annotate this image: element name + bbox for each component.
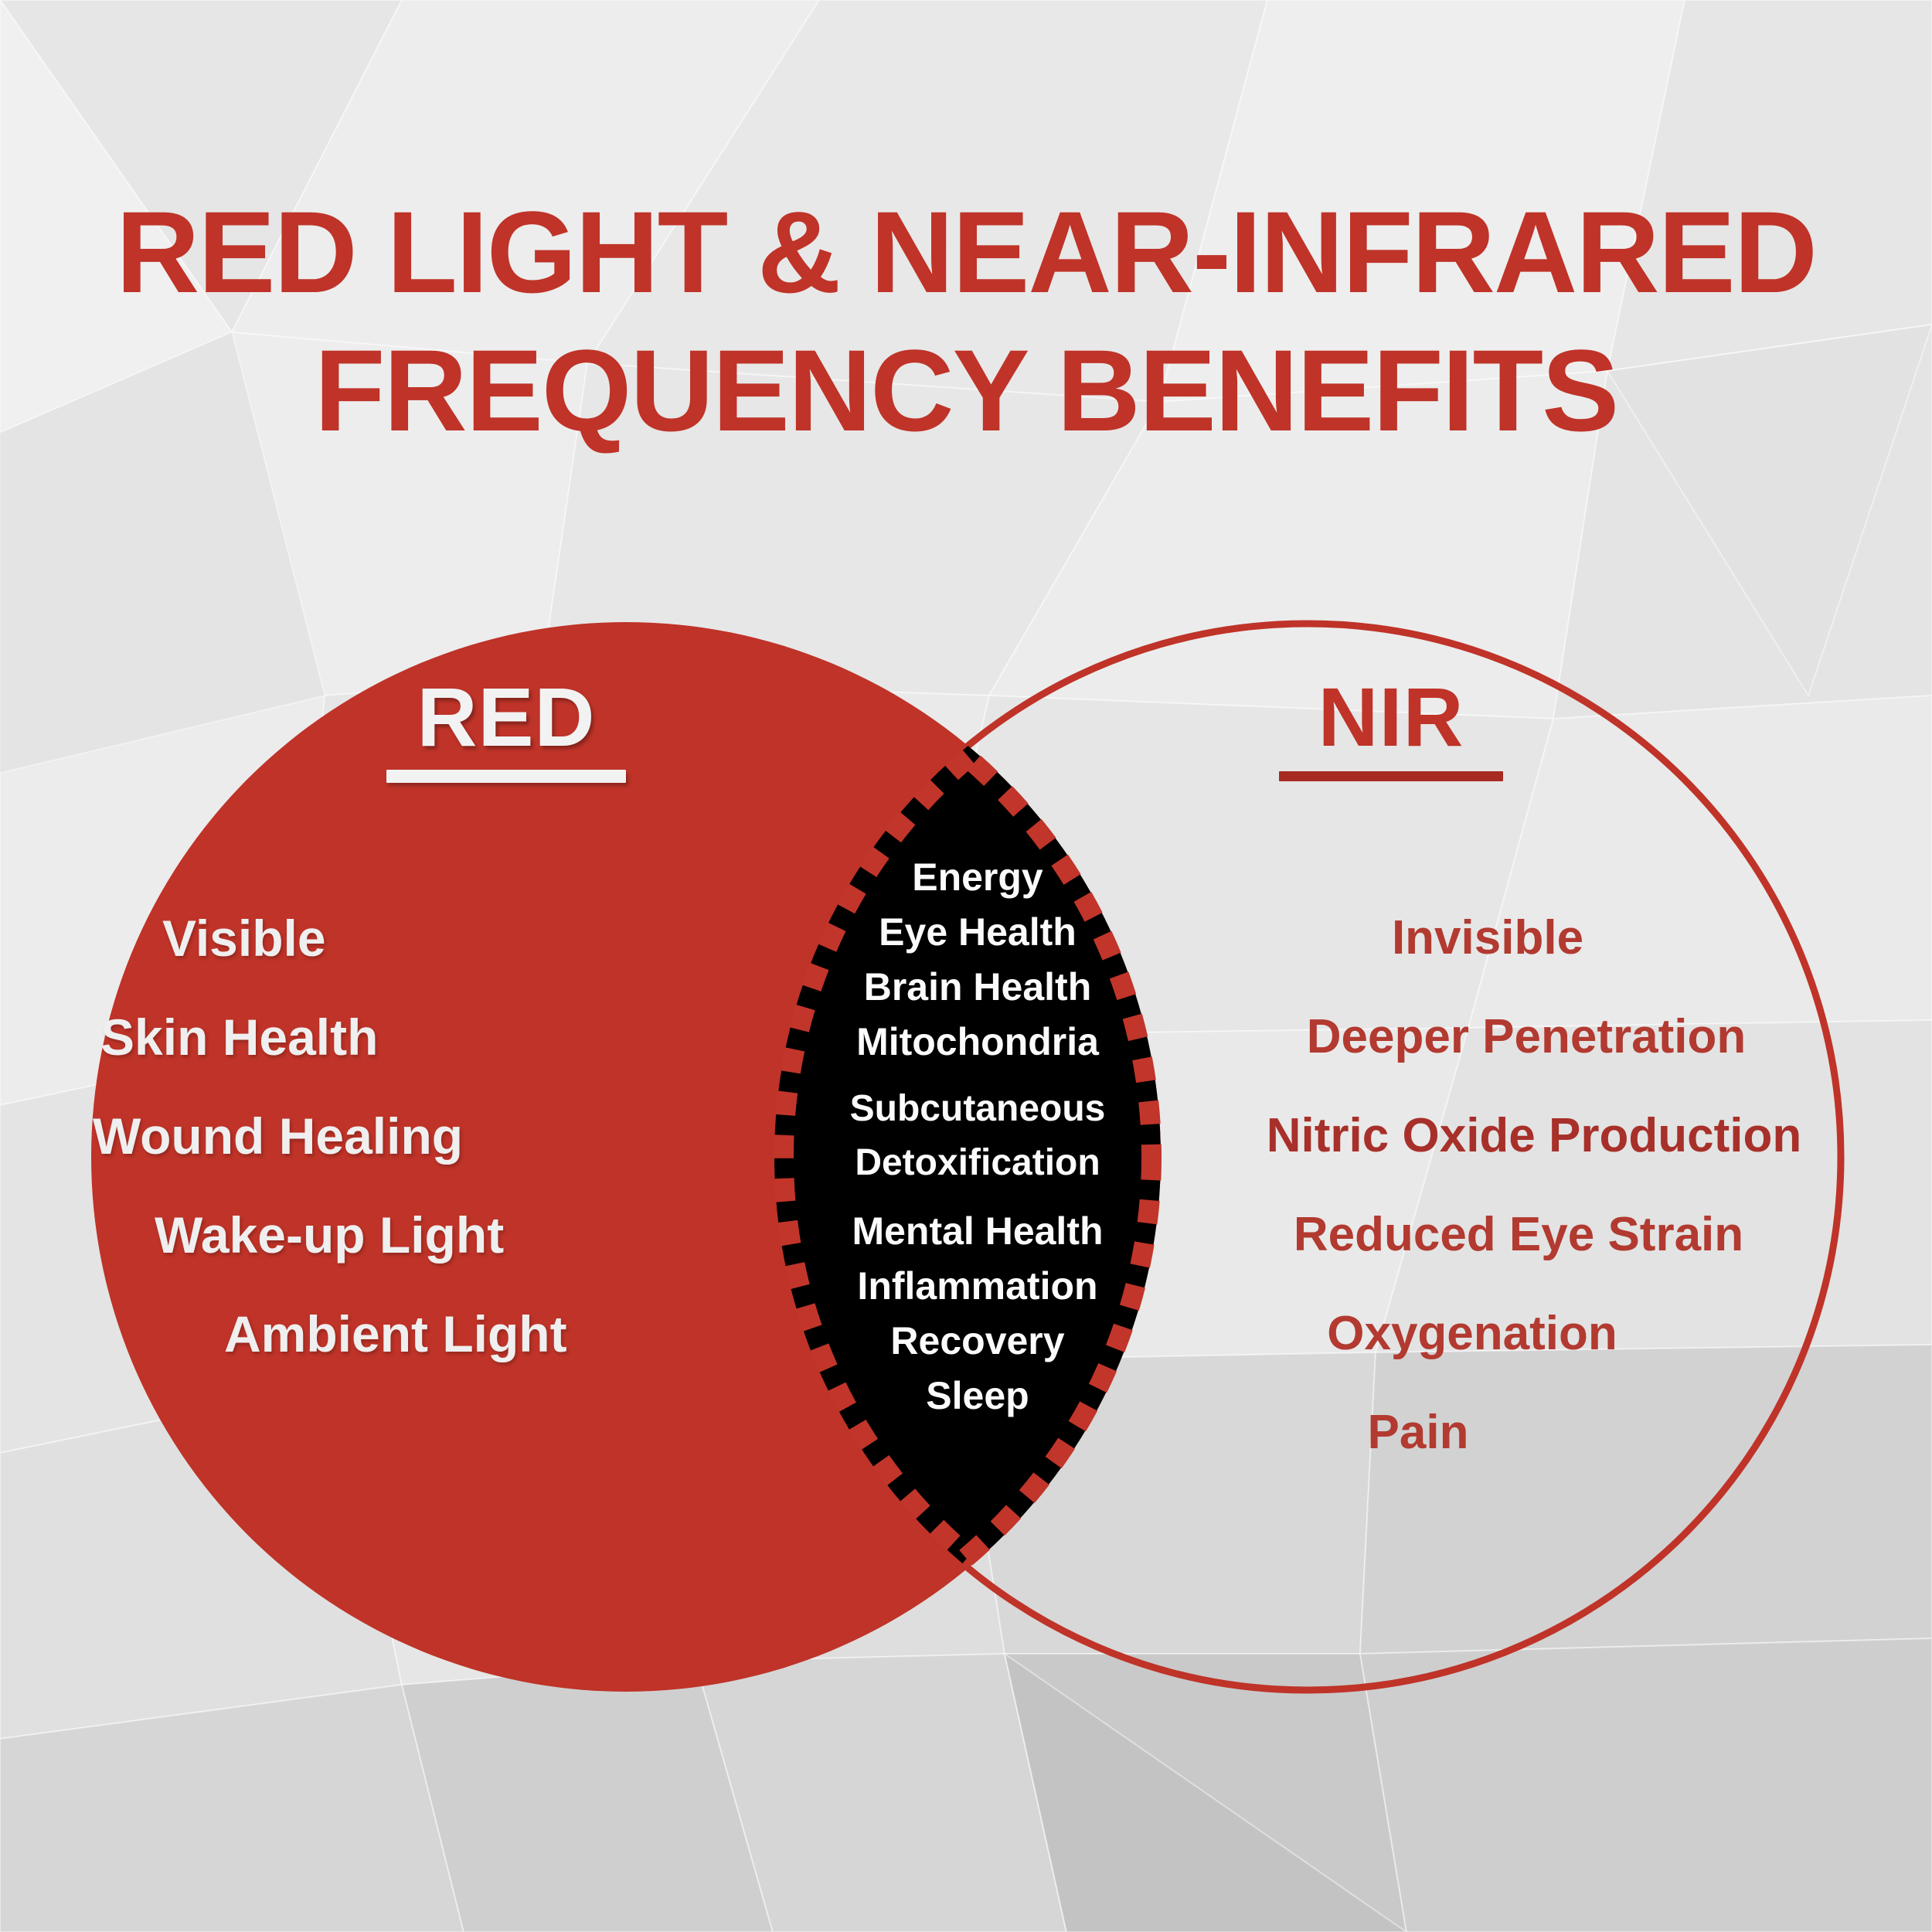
list-item: Recovery: [784, 1314, 1171, 1369]
list-item: Nitric Oxide Production: [1182, 1087, 1886, 1185]
list-item: Sleep: [784, 1369, 1171, 1423]
heading-underline-nir: [1279, 771, 1503, 781]
title-line-2: FREQUENCY BENEFITS: [0, 332, 1932, 450]
list-item: Oxygenation: [1182, 1284, 1886, 1383]
circle-heading-red: RED: [386, 668, 626, 783]
list-item: Pain: [1182, 1383, 1886, 1482]
list-item: Subcutaneous Detoxification: [784, 1082, 1171, 1190]
list-item: Skin Health: [93, 988, 788, 1087]
list-item: Deeper Penetration: [1182, 988, 1886, 1087]
heading-underline-red: [386, 770, 626, 783]
circle-heading-red-label: RED: [417, 670, 595, 764]
list-item: Reduced Eye Strain: [1182, 1185, 1886, 1284]
list-item: Eye Health: [784, 905, 1171, 960]
circle-heading-nir-label: NIR: [1318, 670, 1464, 764]
shared-benefit-list: Energy Eye Health Brain Health Mitochond…: [784, 850, 1171, 1423]
list-item: Invisible: [1182, 889, 1886, 988]
list-item: Brain Health: [784, 960, 1171, 1015]
list-item: Ambient Light: [93, 1284, 788, 1383]
list-item: Wound Healing: [93, 1087, 788, 1185]
title-line-1: RED LIGHT & NEAR-INFRARED: [0, 193, 1932, 311]
list-item: Energy: [784, 850, 1171, 905]
list-item: Mental Health: [784, 1204, 1171, 1259]
list-item: Mitochondria: [784, 1015, 1171, 1070]
list-item: Wake-up Light: [93, 1185, 788, 1284]
nir-benefit-list: Invisible Deeper Penetration Nitric Oxid…: [1182, 889, 1886, 1482]
list-item: Inflammation: [784, 1259, 1171, 1314]
page-title: RED LIGHT & NEAR-INFRARED FREQUENCY BENE…: [0, 193, 1932, 450]
list-item: Visible: [93, 889, 788, 988]
red-benefit-list: Visible Skin Health Wound Healing Wake-u…: [93, 889, 788, 1383]
circle-heading-nir: NIR: [1279, 668, 1503, 781]
infographic-canvas: RED LIGHT & NEAR-INFRARED FREQUENCY BENE…: [0, 0, 1932, 1932]
